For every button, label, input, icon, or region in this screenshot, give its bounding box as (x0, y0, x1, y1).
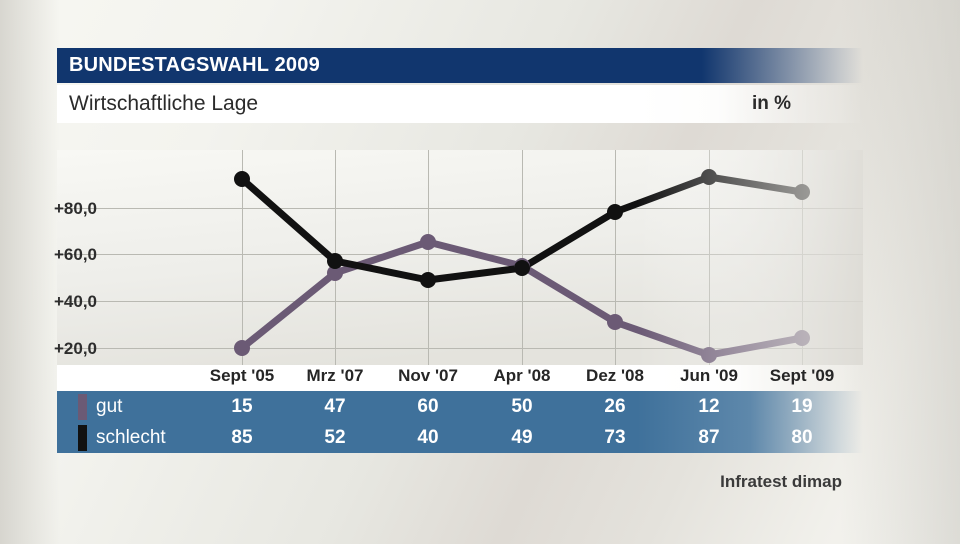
cell-gut-3: 50 (511, 394, 532, 420)
unit-label: in % (752, 93, 863, 115)
y-tick-label-40: +40,0 (54, 292, 97, 312)
x-tick-label-1: Mrz '07 (307, 366, 364, 386)
cell-gut-0: 15 (231, 394, 252, 420)
line-chart-svg (57, 150, 863, 365)
subtitle-bar: Wirtschaftliche Lage in % (57, 85, 863, 123)
source-label: Infratest dimap (720, 472, 842, 492)
row-label-schlecht: schlecht (96, 425, 166, 451)
cell-schlecht-6: 80 (791, 425, 812, 451)
y-tick-label-60: +60,0 (54, 245, 97, 265)
cell-schlecht-2: 40 (417, 425, 438, 451)
cell-gut-4: 26 (604, 394, 625, 420)
table-row-gut: gut 15 47 60 50 26 12 19 (57, 391, 863, 422)
plot-right-fade (57, 150, 863, 365)
x-tick-label-0: Sept '05 (210, 366, 275, 386)
x-tick-label-2: Nov '07 (398, 366, 458, 386)
cell-schlecht-0: 85 (231, 425, 252, 451)
y-tick-label-20: +20,0 (54, 339, 97, 359)
chart-subtitle: Wirtschaftliche Lage (57, 92, 258, 116)
x-tick-label-3: Apr '08 (494, 366, 551, 386)
cell-gut-1: 47 (324, 394, 345, 420)
cell-gut-6: 19 (791, 394, 812, 420)
page-title: BUNDESTAGSWAHL 2009 (57, 54, 320, 77)
legend-swatch-schlecht (78, 425, 87, 451)
cell-gut-5: 12 (698, 394, 719, 420)
x-axis-band (57, 365, 863, 391)
row-label-gut: gut (96, 394, 122, 420)
cell-schlecht-4: 73 (604, 425, 625, 451)
x-tick-label-4: Dez '08 (586, 366, 644, 386)
title-bar: BUNDESTAGSWAHL 2009 (57, 48, 863, 83)
y-tick-label-80: +80,0 (54, 199, 97, 219)
cell-gut-2: 60 (417, 394, 438, 420)
x-tick-label-6: Sept '09 (770, 366, 835, 386)
x-tick-label-5: Jun '09 (680, 366, 738, 386)
cell-schlecht-5: 87 (698, 425, 719, 451)
cell-schlecht-3: 49 (511, 425, 532, 451)
chart-canvas: BUNDESTAGSWAHL 2009 Wirtschaftliche Lage… (0, 0, 960, 544)
table-row-schlecht: schlecht 85 52 40 49 73 87 80 (57, 422, 863, 453)
plot-area (57, 150, 863, 365)
cell-schlecht-1: 52 (324, 425, 345, 451)
data-table: gut 15 47 60 50 26 12 19 schlecht 85 52 … (57, 391, 863, 453)
legend-swatch-gut (78, 394, 87, 420)
